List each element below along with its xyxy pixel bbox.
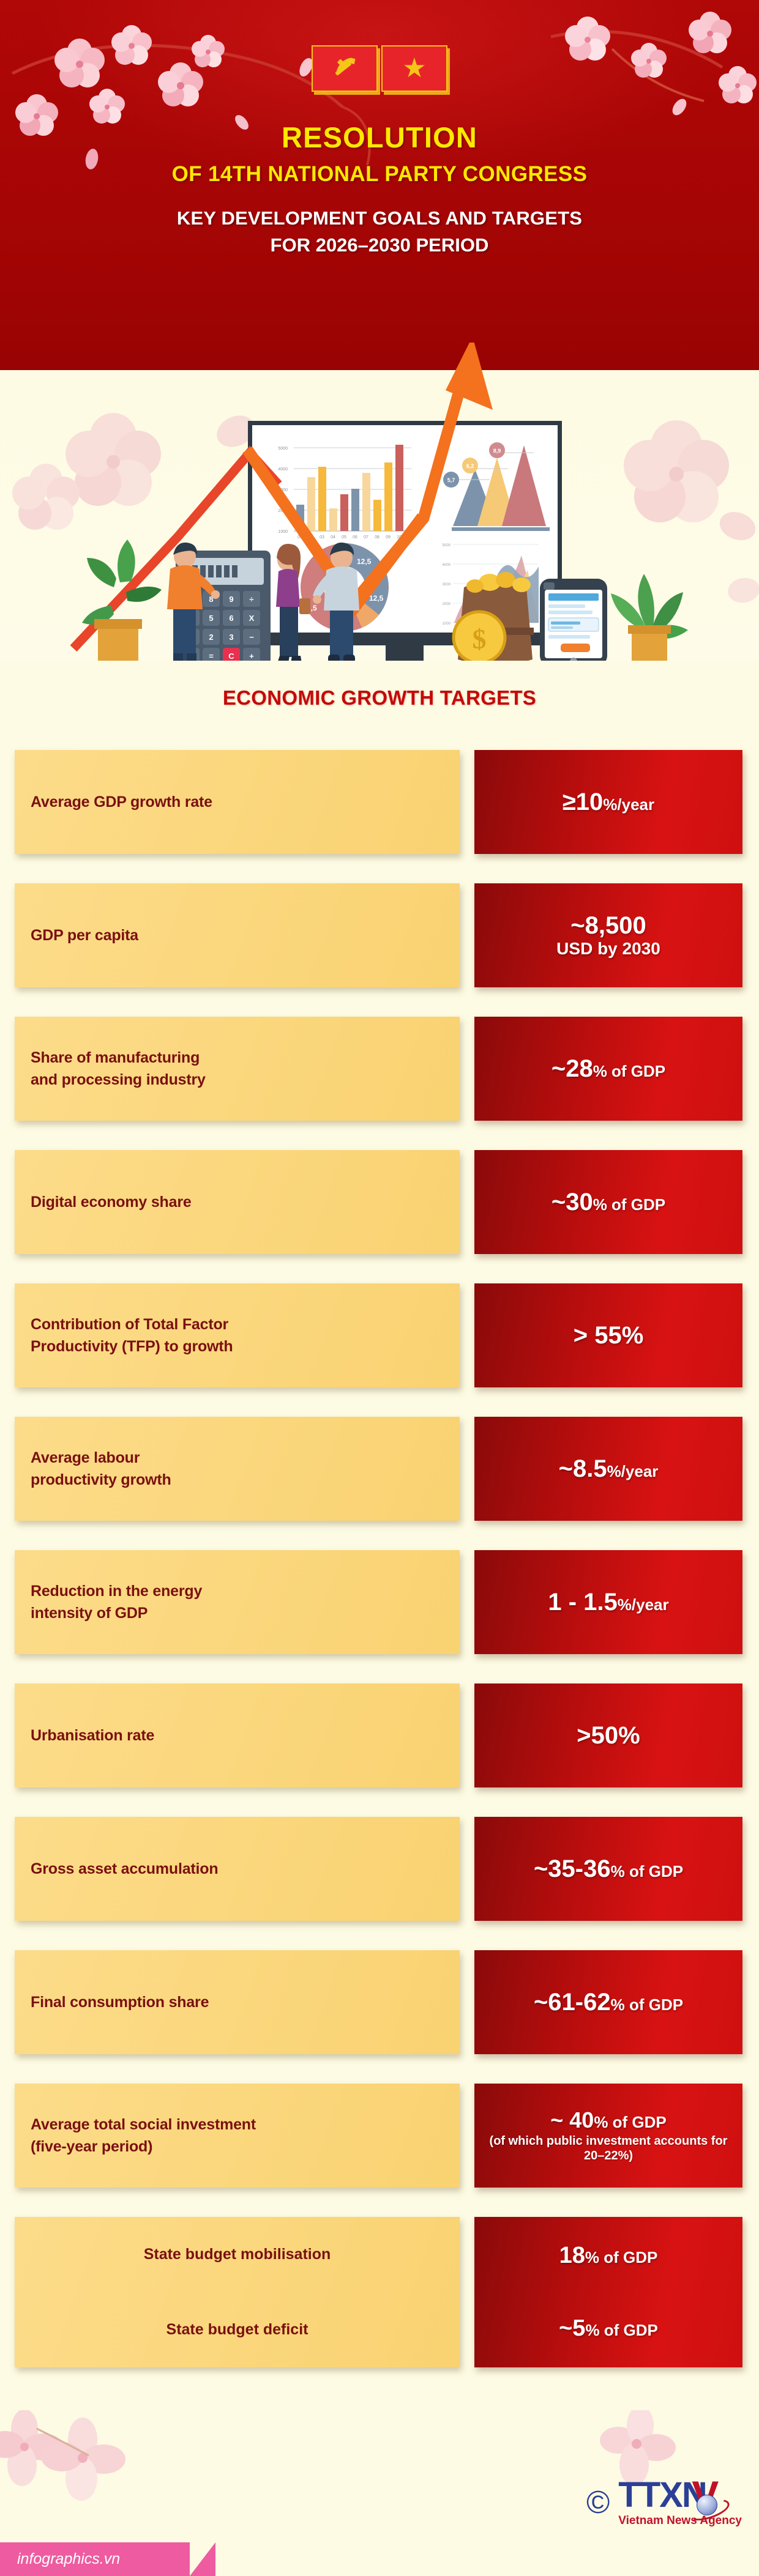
svg-text:07: 07 <box>364 535 368 540</box>
globe-icon <box>697 2495 717 2515</box>
subtitle-line1: KEY DEVELOPMENT GOALS AND TARGETS <box>0 207 759 229</box>
budget-label-card: State budget mobilisationState budget de… <box>15 2217 460 2367</box>
svg-text:04: 04 <box>331 535 335 540</box>
footer: © TTXN V Vietnam News Agency infographic… <box>0 2410 759 2576</box>
target-label-text: Final consumption share <box>15 1991 225 2013</box>
svg-text:5000: 5000 <box>443 544 451 547</box>
main-title: RESOLUTION <box>0 122 759 152</box>
plant-right <box>611 574 688 661</box>
svg-text:$: $ <box>473 623 487 655</box>
svg-text:5,7: 5,7 <box>447 477 455 483</box>
target-label-text: Gross asset accumulation <box>15 1858 234 1880</box>
main-title-line2: OF 14TH NATIONAL PARTY CONGRESS <box>0 162 759 187</box>
target-value-main: ~8.5%/year <box>559 1455 659 1483</box>
svg-text:03: 03 <box>320 535 324 540</box>
target-label-card: Average total social investment(five-yea… <box>15 2084 460 2188</box>
header-banner: ★ RESOLUTION OF 14TH NATIONAL PARTY CONG… <box>0 0 759 370</box>
svg-text:5: 5 <box>209 614 213 623</box>
svg-text:3: 3 <box>229 633 233 642</box>
target-label-card: GDP per capita <box>15 883 460 987</box>
target-value-suffix: %/year <box>618 1595 669 1614</box>
target-label-text: Average GDP growth rate <box>15 791 228 813</box>
target-value-main: ~30% of GDP <box>551 1189 665 1216</box>
budget-mobilisation-value: 18% of GDP <box>559 2243 658 2269</box>
target-value-sub: USD by 2030 <box>556 939 660 959</box>
hero-illustration: 5000 4000 3000 2000 1000 01 02 03 04 0 <box>0 343 759 661</box>
target-value-card: >50% <box>474 1683 742 1787</box>
logo-tagline: Vietnam News Agency <box>618 2514 742 2528</box>
target-label-card: Urbanisation rate <box>15 1683 460 1787</box>
communist-party-flag <box>312 45 378 92</box>
ttxvn-logo: © TTXN V Vietnam News Agency <box>586 2478 742 2528</box>
target-value-card: ~30% of GDP <box>474 1150 742 1254</box>
svg-text:08: 08 <box>375 535 379 540</box>
target-value-main: 1 - 1.5%/year <box>548 1589 668 1616</box>
target-label-card: Share of manufacturingand processing ind… <box>15 1017 460 1121</box>
budget-deficit-label: State budget deficit <box>151 2321 324 2339</box>
target-value-suffix: %/year <box>607 1462 659 1480</box>
svg-text:12,5: 12,5 <box>369 594 384 603</box>
svg-text:12,5: 12,5 <box>357 557 372 566</box>
target-value-card: ~ 40% of GDP(of which public investment … <box>474 2084 742 2188</box>
target-value-main: ~ 40% of GDP <box>550 2108 667 2132</box>
target-label-text: Digital economy share <box>15 1191 208 1213</box>
target-value-main: ~35-36% of GDP <box>534 1855 683 1883</box>
value-suffix: % of GDP <box>585 2248 657 2266</box>
target-value-main: ~28% of GDP <box>551 1055 665 1083</box>
target-value-main: > 55% <box>574 1322 644 1349</box>
infographics-band[interactable]: infographics.vn <box>0 2542 190 2576</box>
svg-text:÷: ÷ <box>249 595 253 604</box>
svg-text:=: = <box>209 651 214 661</box>
svg-text:4000: 4000 <box>278 467 288 472</box>
target-label-text: Contribution of Total FactorProductivity… <box>15 1313 249 1358</box>
target-value-main: ~8,500 <box>570 912 646 940</box>
target-value-card: 1 - 1.5%/year <box>474 1550 742 1654</box>
svg-text:5000: 5000 <box>278 447 288 451</box>
smartphone-icon <box>540 579 607 661</box>
svg-text:9: 9 <box>229 595 233 604</box>
target-label-card: Contribution of Total FactorProductivity… <box>15 1283 460 1387</box>
target-label-card: Average labourproductivity growth <box>15 1417 460 1521</box>
svg-text:6: 6 <box>229 614 233 623</box>
target-value-card: ~8.5%/year <box>474 1417 742 1521</box>
svg-text:+: + <box>249 651 254 661</box>
budget-mobilisation-label: State budget mobilisation <box>128 2246 347 2263</box>
target-value-card: ~28% of GDP <box>474 1017 742 1121</box>
target-value-suffix: % of GDP <box>593 1062 665 1080</box>
target-label-text: Urbanisation rate <box>15 1724 170 1746</box>
target-value-main: ≥10%/year <box>563 789 654 816</box>
flags-group: ★ <box>0 45 759 92</box>
target-label-text: Average total social investment(five-yea… <box>15 2114 272 2158</box>
value-suffix: % of GDP <box>585 2321 657 2339</box>
copyright-icon: © <box>586 2487 610 2518</box>
target-label-text: Reduction in the energyintensity of GDP <box>15 1580 218 1625</box>
logo-wordmark: TTXN V Vietnam News Agency <box>618 2478 742 2528</box>
svg-text:X: X <box>249 614 255 623</box>
svg-text:8,9: 8,9 <box>493 448 501 454</box>
svg-text:−: − <box>249 633 254 642</box>
target-value-note: (of which public investment accounts for… <box>479 2134 738 2163</box>
target-value-suffix: % of GDP <box>593 1195 665 1214</box>
svg-text:2000: 2000 <box>443 603 451 606</box>
title-block: RESOLUTION OF 14TH NATIONAL PARTY CONGRE… <box>0 122 759 256</box>
target-value-main: ~61-62% of GDP <box>534 1989 683 2016</box>
target-label-card: Reduction in the energyintensity of GDP <box>15 1550 460 1654</box>
target-label-card: Digital economy share <box>15 1150 460 1254</box>
vietnam-flag: ★ <box>381 45 447 92</box>
svg-text:06: 06 <box>353 535 357 540</box>
svg-text:6,2: 6,2 <box>466 463 474 469</box>
gold-star-icon: ★ <box>402 55 426 82</box>
svg-text:C: C <box>228 651 234 661</box>
svg-text:3000: 3000 <box>443 583 451 587</box>
target-value-card: ≥10%/year <box>474 750 742 854</box>
infographics-url: infographics.vn <box>0 2550 120 2568</box>
target-value-card: > 55% <box>474 1283 742 1387</box>
target-value-card: ~61-62% of GDP <box>474 1950 742 2054</box>
budget-value-card: 18% of GDP~5% of GDP <box>474 2217 742 2367</box>
target-label-card: Gross asset accumulation <box>15 1817 460 1921</box>
target-value-suffix: % of GDP <box>611 1862 683 1880</box>
target-label-text: Average labourproductivity growth <box>15 1447 187 1491</box>
target-value-card: ~35-36% of GDP <box>474 1817 742 1921</box>
budget-deficit-value: ~5% of GDP <box>559 2315 658 2342</box>
svg-text:1000: 1000 <box>443 622 451 626</box>
svg-text:1000: 1000 <box>278 530 288 534</box>
hammer-sickle-icon <box>327 51 362 86</box>
section-title: ECONOMIC GROWTH TARGETS <box>0 686 759 710</box>
logo-ttx: TTX <box>618 2475 682 2515</box>
target-value-suffix: %/year <box>603 795 654 814</box>
svg-text:09: 09 <box>386 535 391 540</box>
target-label-text: Share of manufacturingand processing ind… <box>15 1047 222 1091</box>
svg-text:2: 2 <box>209 633 213 642</box>
target-value-suffix: % of GDP <box>594 2113 666 2131</box>
target-label-text: GDP per capita <box>15 924 154 946</box>
target-value-main: >50% <box>577 1722 640 1750</box>
target-value-suffix: % of GDP <box>611 1995 683 2014</box>
subtitle-line2: FOR 2026–2030 PERIOD <box>0 234 759 256</box>
target-label-card: Average GDP growth rate <box>15 750 460 854</box>
target-label-card: Final consumption share <box>15 1950 460 2054</box>
svg-text:4000: 4000 <box>443 563 451 567</box>
svg-text:05: 05 <box>342 535 346 540</box>
logo-ttx-text: TTXN V <box>618 2478 742 2513</box>
analytics-scene: 5000 4000 3000 2000 1000 01 02 03 04 0 <box>0 343 759 661</box>
target-value-card: ~8,500USD by 2030 <box>474 883 742 987</box>
infographic-page: ★ RESOLUTION OF 14TH NATIONAL PARTY CONG… <box>0 0 759 2576</box>
